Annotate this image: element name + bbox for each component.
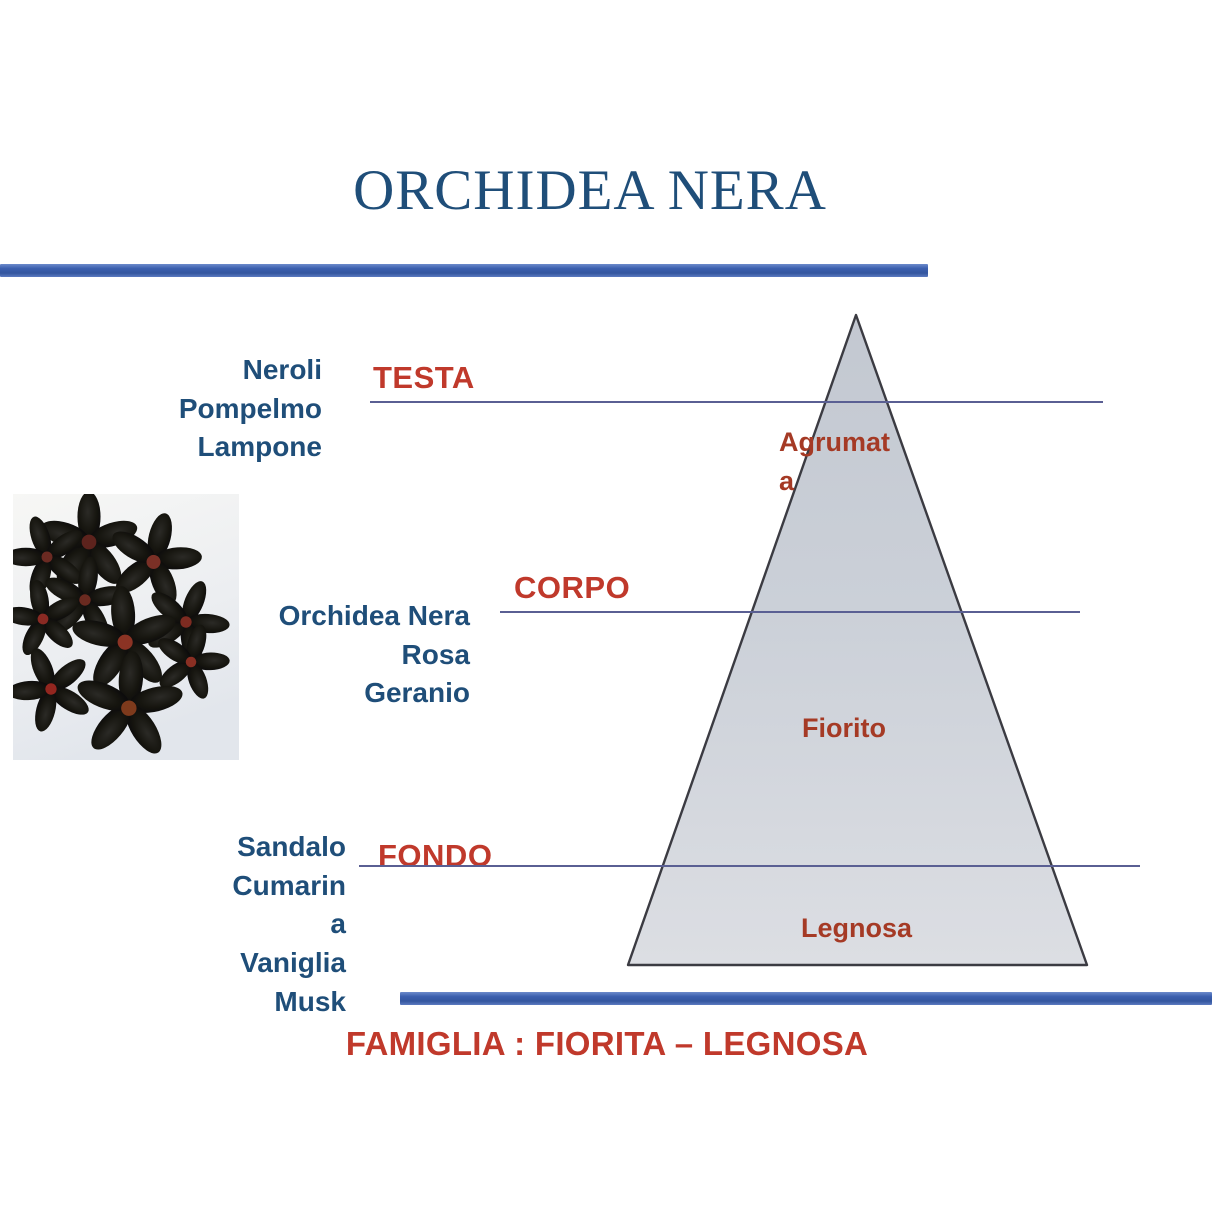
slide-canvas: ORCHIDEA NERA [0,0,1214,1214]
family-label-legnosa: Legnosa [801,909,912,948]
top-notes-list: Neroli Pompelmo Lampone [110,351,322,467]
corpo-divider-line [500,611,1080,613]
base-notes-list: Sandalo Cumarin a Vaniglia Musk [140,828,346,1021]
testa-divider-line [370,401,1103,403]
stage-label-testa: TESTA [373,360,475,396]
fragrance-pyramid [600,300,1120,990]
top-accent-bar [0,264,928,277]
family-label-agrumata: Agrumat a [779,423,899,501]
family-label-fiorito: Fiorito [802,709,886,748]
stage-label-fondo: FONDO [378,838,492,874]
fondo-divider-line [359,865,1140,867]
heart-notes-list: Orchidea Nera Rosa Geranio [150,597,470,713]
stage-label-corpo: CORPO [514,570,630,606]
bottom-accent-bar [400,992,1212,1005]
fragrance-family-caption: FAMIGLIA : FIORITA – LEGNOSA [0,1025,1214,1063]
page-title: ORCHIDEA NERA [0,158,1180,223]
